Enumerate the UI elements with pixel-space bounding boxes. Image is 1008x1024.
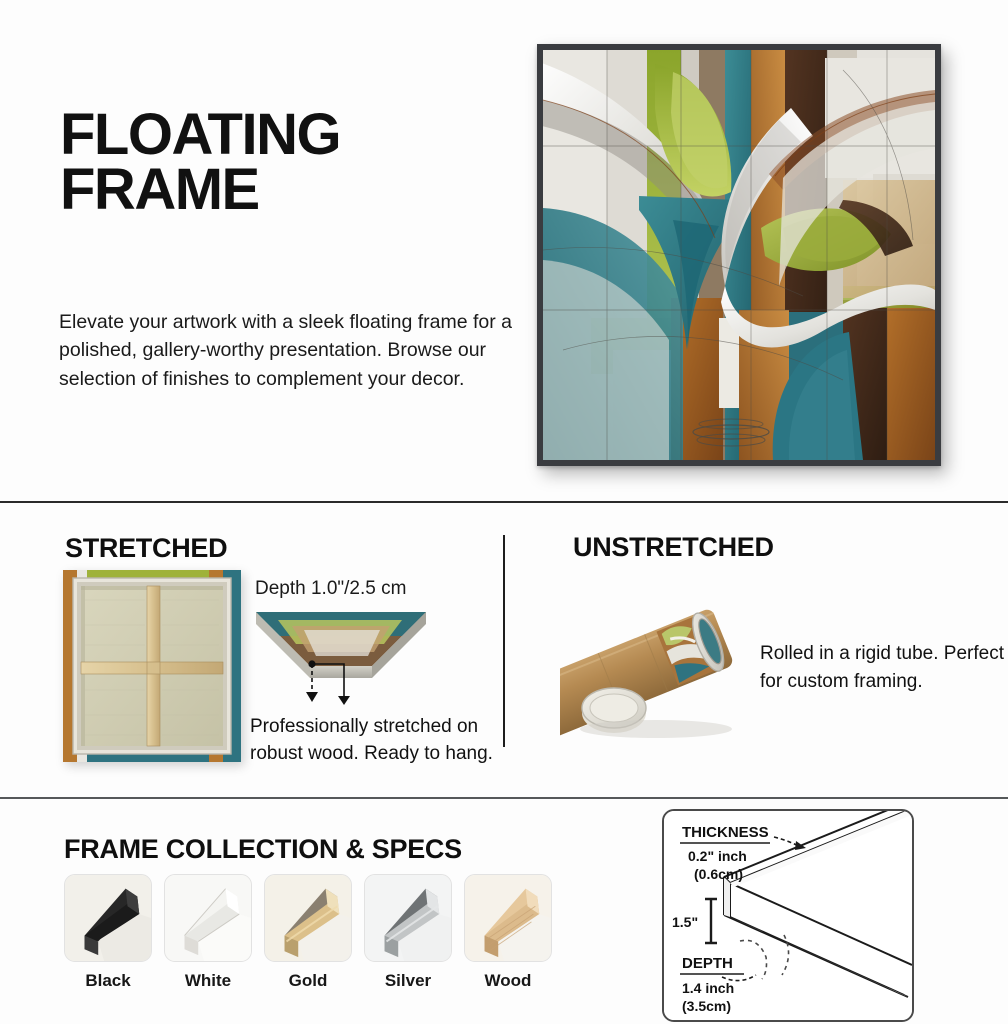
stretched-heading: STRETCHED bbox=[65, 533, 227, 564]
frame-specs-diagram: THICKNESS 0.2" inch (0.6cm) 1.5" DEPTH 1… bbox=[662, 809, 914, 1022]
thickness-label-text: THICKNESS bbox=[682, 824, 769, 841]
thickness-inch-text: 0.2" inch bbox=[688, 848, 747, 864]
frame-corner-thumbnail[interactable] bbox=[164, 874, 252, 962]
depth-label-text: DEPTH bbox=[682, 955, 733, 972]
frame-swatch-label: Black bbox=[64, 971, 152, 991]
floating-frame-product-infographic: FLOATING FRAME Elevate your artwork with… bbox=[0, 0, 1008, 1024]
frame-swatch-silver[interactable]: Silver bbox=[364, 874, 452, 991]
frame-corner-icon bbox=[465, 875, 551, 961]
frame-swatch-black[interactable]: Black bbox=[64, 874, 152, 991]
frame-swatch-wood[interactable]: Wood bbox=[464, 874, 552, 991]
frame-corner-thumbnail[interactable] bbox=[464, 874, 552, 962]
frame-corner-thumbnail[interactable] bbox=[264, 874, 352, 962]
frame-swatch-label: Silver bbox=[364, 971, 452, 991]
frame-swatch-row: Black White bbox=[64, 874, 552, 991]
frame-dimension-drawing: THICKNESS 0.2" inch (0.6cm) 1.5" DEPTH 1… bbox=[664, 811, 912, 1020]
depth-measurement-label: Depth 1.0"/2.5 cm bbox=[255, 578, 406, 600]
frame-swatch-label: White bbox=[164, 971, 252, 991]
stretched-canvas-back-photo bbox=[63, 570, 241, 762]
frame-corner-icon bbox=[265, 875, 351, 961]
frame-swatch-white[interactable]: White bbox=[164, 874, 252, 991]
unstretched-heading: UNSTRETCHED bbox=[573, 532, 774, 563]
abstract-artwork-image bbox=[543, 50, 935, 460]
depth-cm-text: (3.5cm) bbox=[682, 998, 731, 1014]
framed-artwork-preview bbox=[537, 44, 941, 466]
frame-corner-icon bbox=[365, 875, 451, 961]
frame-corner-icon bbox=[165, 875, 251, 961]
frame-corner-icon bbox=[65, 875, 151, 961]
frame-swatch-label: Wood bbox=[464, 971, 552, 991]
hero-section: FLOATING FRAME Elevate your artwork with… bbox=[0, 0, 1008, 502]
shipping-tube-photo bbox=[560, 577, 768, 745]
frame-collection-heading: FRAME COLLECTION & SPECS bbox=[64, 834, 462, 865]
depth-inch-text: 1.4 inch bbox=[682, 980, 734, 996]
page-title: FLOATING FRAME bbox=[60, 108, 340, 217]
frame-corner-thumbnail[interactable] bbox=[64, 874, 152, 962]
artwork-canvas-area bbox=[543, 50, 935, 460]
frame-swatch-label: Gold bbox=[264, 971, 352, 991]
frame-corner-thumbnail[interactable] bbox=[364, 874, 452, 962]
stretched-caption: Professionally stretched on robust wood.… bbox=[250, 714, 506, 767]
canvas-depth-diagram bbox=[252, 604, 430, 708]
hero-description: Elevate your artwork with a sleek floati… bbox=[59, 308, 529, 393]
thickness-cm-text: (0.6cm) bbox=[694, 866, 743, 882]
frame-swatch-gold[interactable]: Gold bbox=[264, 874, 352, 991]
height-dimension-text: 1.5" bbox=[672, 914, 698, 930]
unstretched-caption: Rolled in a rigid tube. Perfect for cust… bbox=[760, 640, 1004, 695]
